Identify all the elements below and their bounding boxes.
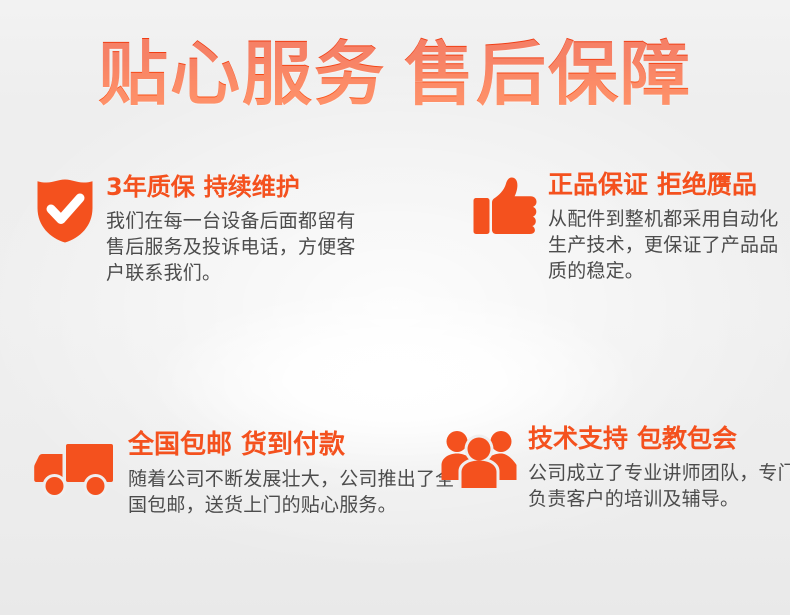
main-title-part1: 贴心服务 <box>98 33 386 115</box>
feature-heading-part1: 正品保证 <box>548 170 648 199</box>
feature-text-shipping: 全国包邮货到付款 随着公司不断发展壮大，公司推出了全国包邮，送货上门的贴心服务。 <box>128 430 394 518</box>
feature-heading-shipping: 全国包邮货到付款 <box>128 430 394 460</box>
thumbs-up-icon <box>472 176 538 238</box>
main-title-part2: 售后保障 <box>404 33 692 115</box>
feature-text-authenticity: 正品保证拒绝赝品 从配件到整机都采用自动化生产技术，更保证了产品品质的稳定。 <box>548 170 782 284</box>
feature-text-warranty: 3年质保持续维护 我们在每一台设备后面都留有售后服务及投诉电话，方便客户联系我们… <box>106 172 374 286</box>
feature-heading-part1: 全国包邮 <box>128 430 232 460</box>
feature-heading-part2: 货到付款 <box>241 430 345 460</box>
delivery-truck-icon <box>34 440 116 498</box>
feature-item-support: 技术支持包教包会 公司成立了专业讲师团队，专门负责客户的培训及辅导。 <box>440 424 790 512</box>
feature-body-shipping: 随着公司不断发展壮大，公司推出了全国包邮，送货上门的贴心服务。 <box>128 466 458 518</box>
feature-item-authenticity: 正品保证拒绝赝品 从配件到整机都采用自动化生产技术，更保证了产品品质的稳定。 <box>472 170 782 284</box>
people-group-icon <box>440 428 518 488</box>
feature-heading-warranty: 3年质保持续维护 <box>106 172 374 202</box>
feature-heading-part1: 技术支持 <box>528 424 628 453</box>
feature-heading-part2: 拒绝赝品 <box>657 170 757 199</box>
feature-item-shipping: 全国包邮货到付款 随着公司不断发展壮大，公司推出了全国包邮，送货上门的贴心服务。 <box>34 430 394 518</box>
feature-grid: 3年质保持续维护 我们在每一台设备后面都留有售后服务及投诉电话，方便客户联系我们… <box>0 168 790 588</box>
feature-heading-support: 技术支持包教包会 <box>528 424 790 454</box>
shield-check-icon <box>34 178 96 244</box>
feature-body-warranty: 我们在每一台设备后面都留有售后服务及投诉电话，方便客户联系我们。 <box>106 208 371 286</box>
main-title-text: 贴心服务售后保障 <box>98 34 692 114</box>
feature-heading-part2: 持续维护 <box>204 173 300 201</box>
feature-item-warranty: 3年质保持续维护 我们在每一台设备后面都留有售后服务及投诉电话，方便客户联系我们… <box>34 172 374 286</box>
service-guarantee-poster: 贴心服务售后保障 3年质保持续维护 我们在每一台设备后面都留有售后服务及投诉电话… <box>0 0 790 615</box>
feature-body-support: 公司成立了专业讲师团队，专门负责客户的培训及辅导。 <box>528 460 790 512</box>
feature-body-authenticity: 从配件到整机都采用自动化生产技术，更保证了产品品质的稳定。 <box>548 206 790 284</box>
feature-heading-part2: 包教包会 <box>637 424 737 453</box>
page-title: 贴心服务售后保障 <box>0 34 790 114</box>
feature-text-support: 技术支持包教包会 公司成立了专业讲师团队，专门负责客户的培训及辅导。 <box>528 424 790 512</box>
feature-heading-authenticity: 正品保证拒绝赝品 <box>548 170 782 200</box>
feature-heading-part1: 3年质保 <box>106 173 195 201</box>
